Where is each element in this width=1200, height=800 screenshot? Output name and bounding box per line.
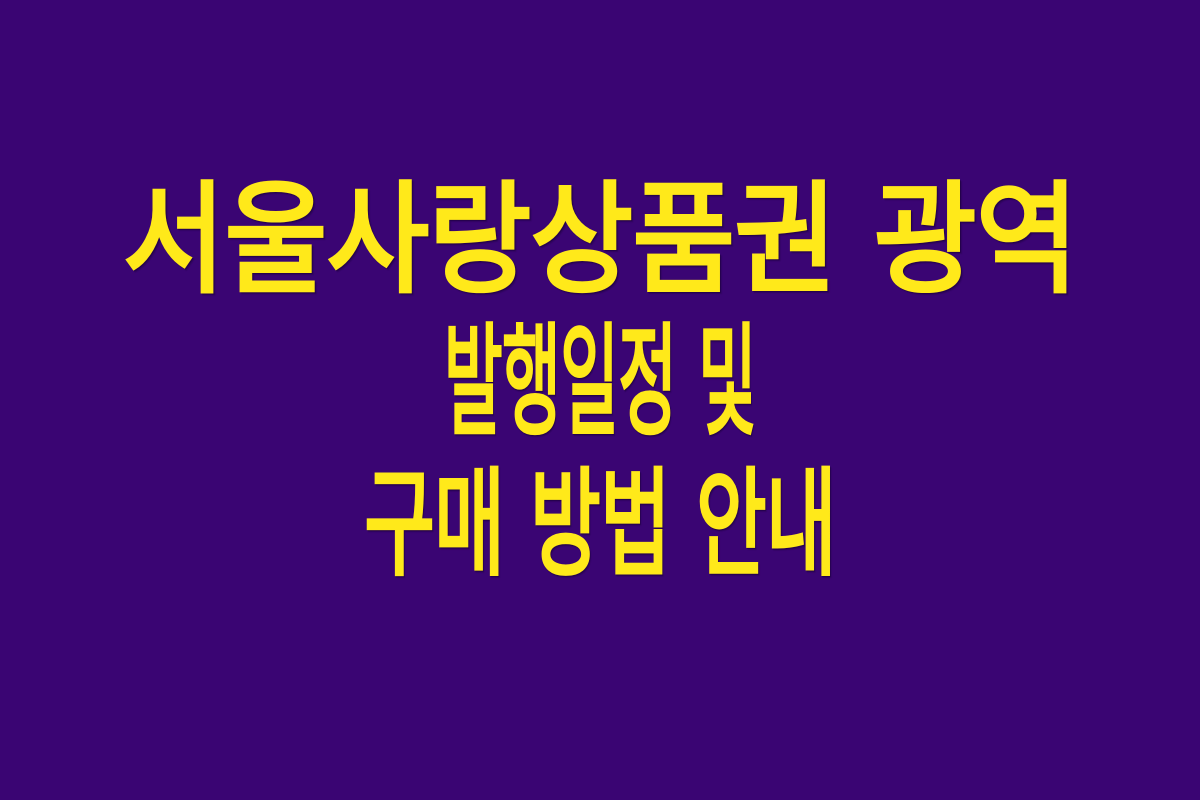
promo-banner: 서울사랑상품권 광역 발행일정 및 구매 방법 안내 (0, 0, 1200, 800)
headline-block: 서울사랑상품권 광역 발행일정 및 구매 방법 안내 (0, 179, 1200, 583)
headline-line-3: 구매 방법 안내 (208, 465, 992, 583)
headline-line-2: 발행일정 및 (285, 321, 915, 443)
headline-line-1: 서울사랑상품권 광역 (48, 179, 1152, 301)
